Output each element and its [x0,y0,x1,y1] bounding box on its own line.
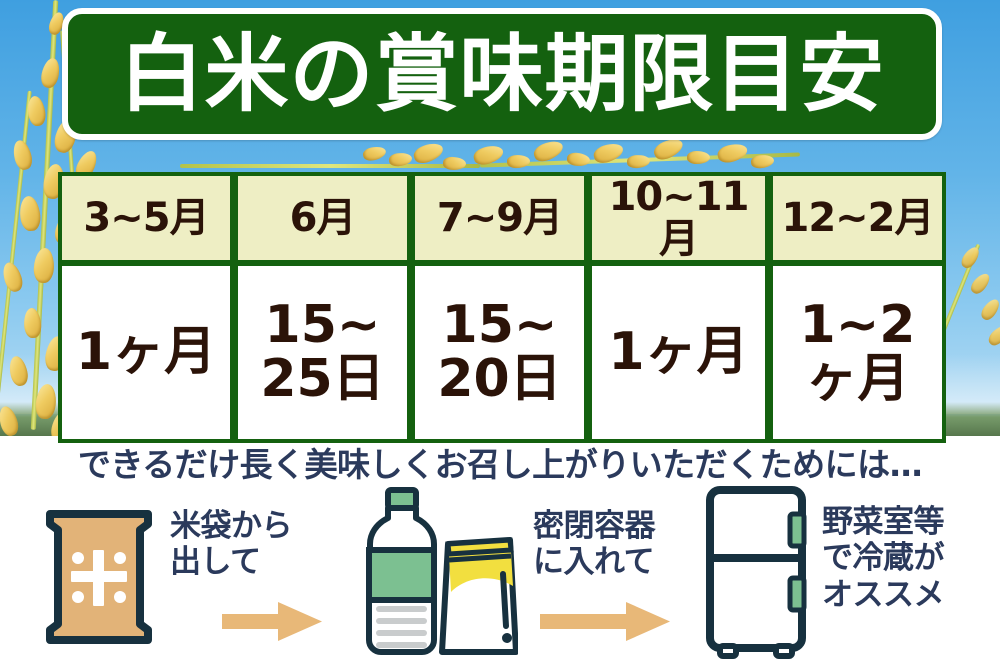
subtitle-text: できるだけ長く美味しくお召し上がりいただくためには… [0,438,1000,486]
step-label-line-1: 野菜室等 [822,504,944,540]
bottle-and-pouch-icon [348,486,518,663]
page-title: 白米の賞味期限目安 [119,32,884,116]
value-line-2: 20日 [417,353,582,406]
step-label-line-3: オススメ [822,577,944,613]
value-line-2: 25日 [240,353,405,406]
arrow-right-icon-1 [222,600,322,649]
arrow-right-icon-2 [540,600,670,649]
step-label-line-2: に入れて [533,544,654,580]
table-header-cell: 12~2月 [769,172,946,263]
rice-bag-icon [36,500,162,657]
step-label-1: 米袋から 出して [170,508,292,581]
table-value-cell: 1~2 ヶ月 [769,263,946,443]
refrigerator-icon [702,484,814,665]
step-label-line-1: 密閉容器 [533,508,655,544]
value-line-1: 1ヶ月 [64,326,228,379]
rice-stalk-right [940,240,1000,370]
value-line-1: 1~2 [775,299,940,352]
title-banner: 白米の賞味期限目安 [62,8,942,140]
table-header-cell: 10~11月 [588,172,769,263]
table-header-row: 3~5月 6月 7~9月 10~11月 12~2月 [58,172,946,263]
value-line-2: ヶ月 [775,353,940,406]
infographic-root: 白米の賞味期限目安 3~5月 6月 7~9月 10~11月 12~2月 1ヶ月 [0,0,1000,666]
table-value-cell: 15~ 25日 [234,263,411,443]
step-label-2: 密閉容器 に入れて [533,508,655,581]
table-value-cell: 15~ 20日 [411,263,588,443]
table-value-cell: 1ヶ月 [588,263,769,443]
table-header-cell: 3~5月 [58,172,234,263]
value-line-1: 1ヶ月 [594,326,763,379]
storage-steps: 米袋から 出して [0,484,1000,666]
value-line-1: 15~ [417,299,582,352]
step-label-line-2: で冷蔵が [822,540,944,576]
table-header-cell: 7~9月 [411,172,588,263]
shelf-life-table: 3~5月 6月 7~9月 10~11月 12~2月 1ヶ月 15~ 25日 15… [58,172,946,443]
step-label-line-1: 米袋から [170,508,292,544]
table-header-cell: 6月 [234,172,411,263]
table-value-cell: 1ヶ月 [58,263,234,443]
step-label-3: 野菜室等 で冷蔵が オススメ [822,504,944,613]
value-line-1: 15~ [240,299,405,352]
table-value-row: 1ヶ月 15~ 25日 15~ 20日 1ヶ月 1~2 ヶ月 [58,263,946,443]
step-label-line-2: 出して [170,544,261,580]
